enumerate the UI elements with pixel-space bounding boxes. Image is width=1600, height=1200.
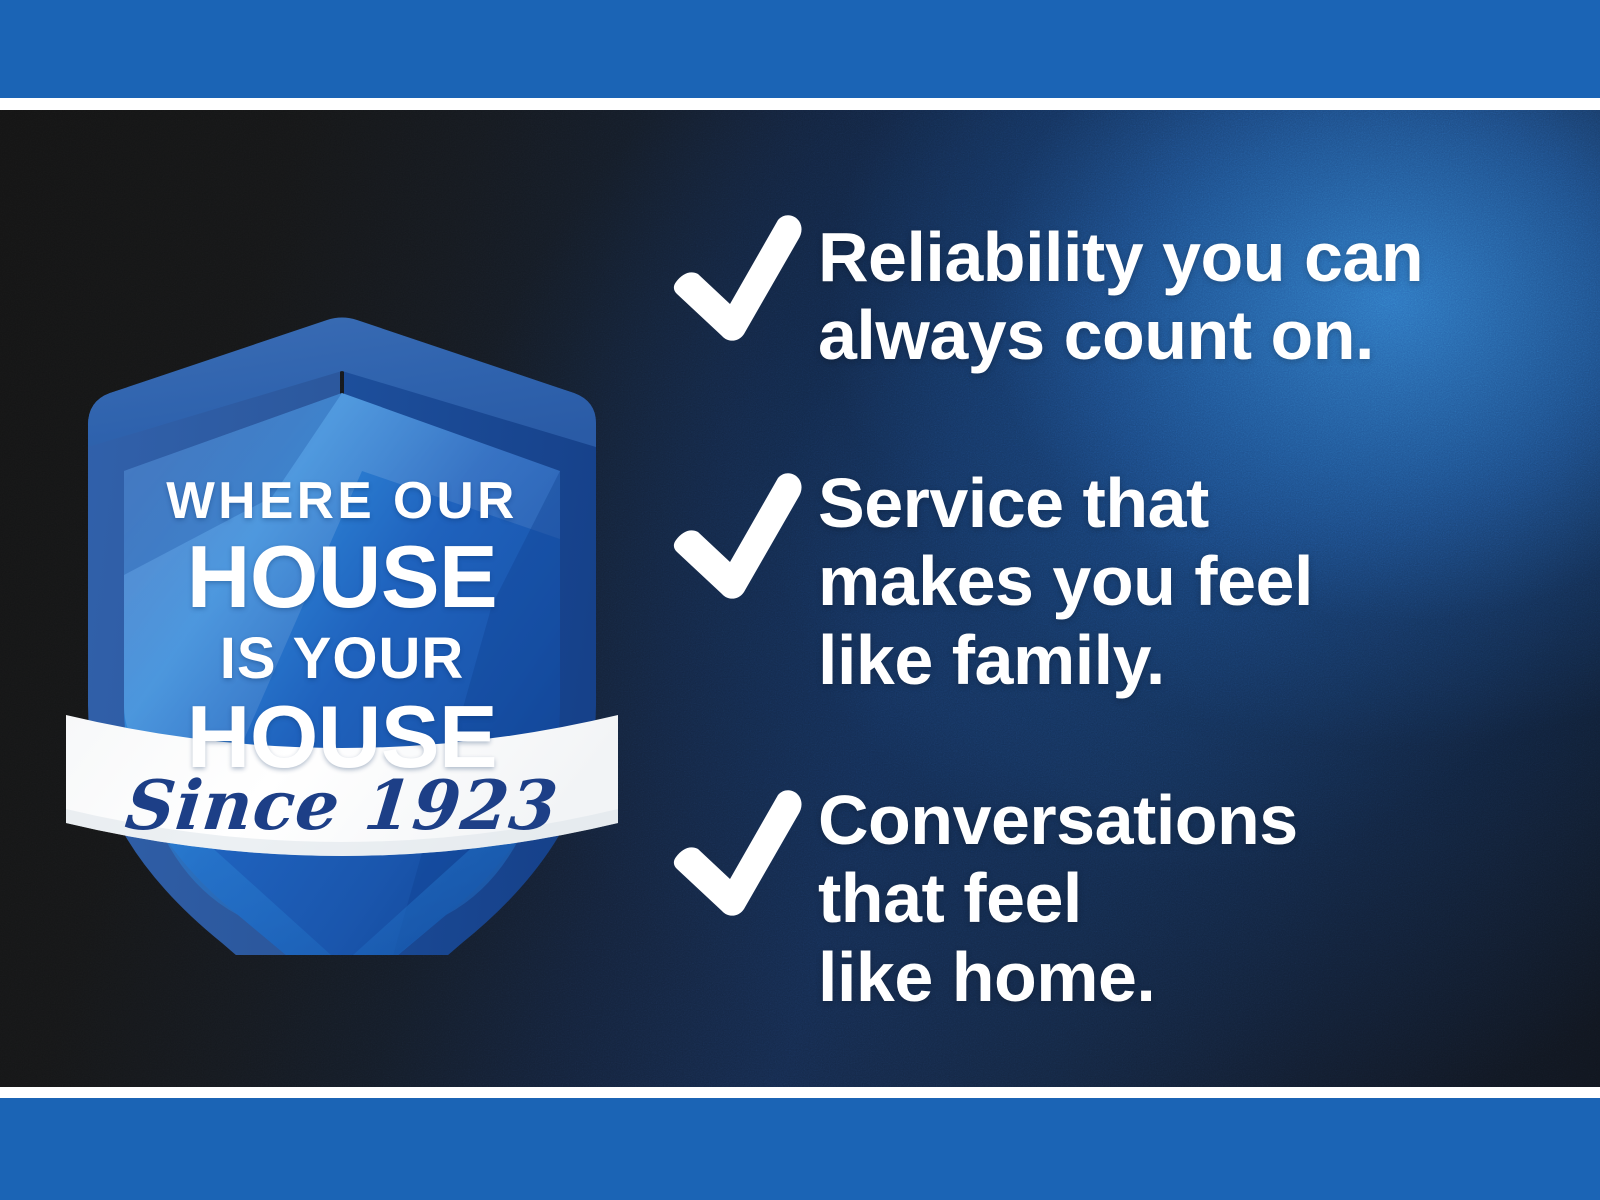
- shield-emblem: WHERE OUR HOUSE IS YOUR HOUSE Since 1923: [62, 275, 622, 955]
- check-icon: [668, 464, 818, 600]
- check-icon: [668, 206, 818, 342]
- checklist-item-text: Conversations that feel like home.: [818, 781, 1548, 1016]
- ribbon-since-text: Since 1923: [58, 772, 625, 840]
- checklist-item: Service that makes you feel like family.: [668, 464, 1548, 699]
- promotional-banner: WHERE OUR HOUSE IS YOUR HOUSE Since 1923…: [0, 0, 1600, 1200]
- shield-wordmark-line-1: WHERE OUR: [65, 475, 619, 527]
- checklist-item-text: Service that makes you feel like family.: [818, 464, 1548, 699]
- shield-wordmark-line-3: IS YOUR: [62, 630, 622, 688]
- check-icon: [668, 781, 818, 917]
- checklist-item: Conversations that feel like home.: [668, 781, 1548, 1016]
- top-brand-bar: [0, 0, 1600, 98]
- checklist-item: Reliability you can always count on.: [668, 206, 1548, 375]
- checklist-item-text: Reliability you can always count on.: [818, 218, 1548, 375]
- shield-wordmark-line-2: HOUSE: [62, 533, 622, 621]
- bottom-brand-bar: [0, 1098, 1600, 1200]
- banner-stage: WHERE OUR HOUSE IS YOUR HOUSE Since 1923…: [0, 110, 1600, 1087]
